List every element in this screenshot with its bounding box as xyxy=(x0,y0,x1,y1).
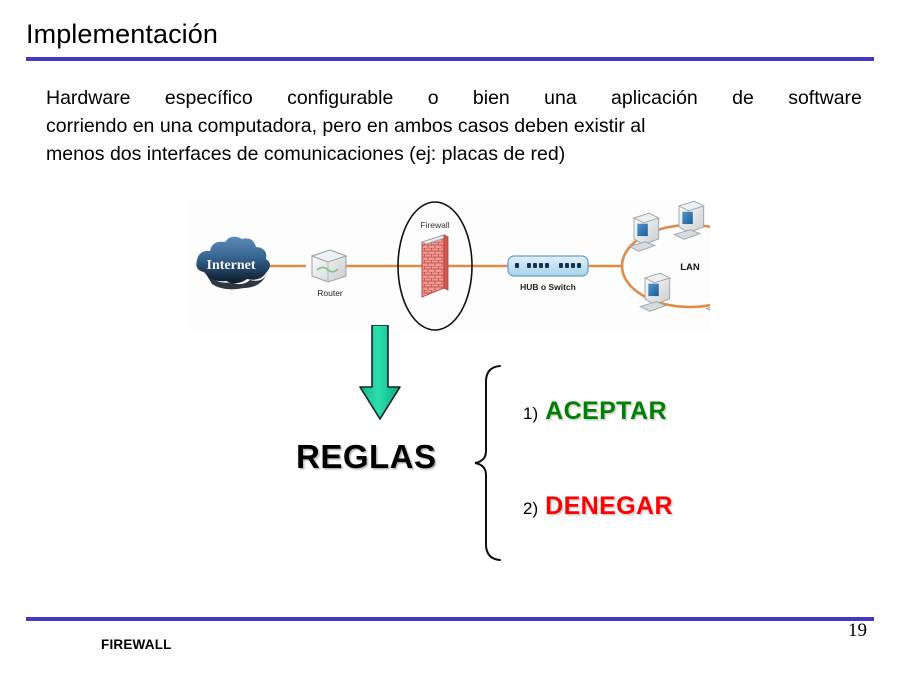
slide-canvas: Implementación Hardware específico confi… xyxy=(0,0,900,675)
arrow-shape xyxy=(360,325,400,419)
lan-label: LAN xyxy=(680,262,700,273)
rule-label-aceptar: ACEPTAR xyxy=(545,397,667,425)
title-divider xyxy=(26,57,874,61)
body-line-1: Hardware específico configurable o bien … xyxy=(46,84,862,112)
workstation-icon xyxy=(674,201,703,239)
body-word: de xyxy=(732,84,754,112)
internet-label: Internet xyxy=(207,258,256,273)
body-line-3: menos dos interfaces de comunicaciones (… xyxy=(46,140,862,168)
workstation-icon xyxy=(640,273,669,311)
body-word: bien xyxy=(473,84,510,112)
body-word: aplicación xyxy=(611,84,698,112)
router-label: Router xyxy=(317,288,343,298)
body-word: específico xyxy=(165,84,253,112)
page-number: 19 xyxy=(848,620,867,642)
rule-item-deny: 2)DENEGAR xyxy=(523,492,673,521)
body-paragraph: Hardware específico configurable o bien … xyxy=(46,84,862,168)
workstation-icon xyxy=(629,213,658,251)
firewall-icon: Firewall xyxy=(420,220,449,297)
rule-number: 2) xyxy=(523,499,538,518)
body-word: Hardware xyxy=(46,84,131,112)
footer-label: FIREWALL xyxy=(101,637,172,652)
router-icon: Router xyxy=(312,250,346,298)
hub-switch-icon: HUB o Switch xyxy=(508,256,588,292)
rule-item-accept: 1)ACEPTAR xyxy=(523,397,667,426)
page-title: Implementación xyxy=(26,20,218,50)
body-word: software xyxy=(788,84,862,112)
footer-divider xyxy=(26,617,874,621)
body-word: configurable xyxy=(287,84,393,112)
body-word: una xyxy=(544,84,577,112)
body-line-2: corriendo en una computadora, pero en am… xyxy=(46,112,862,140)
workstation-group xyxy=(629,201,710,313)
reglas-heading: REGLAS xyxy=(296,438,437,476)
rule-number: 1) xyxy=(523,404,538,423)
workstation-icon xyxy=(706,275,710,313)
network-diagram: Internet Router Firewall xyxy=(190,200,710,332)
hub-label: HUB o Switch xyxy=(520,282,576,292)
curly-brace xyxy=(470,363,510,563)
internet-cloud-icon: Internet xyxy=(196,237,270,290)
down-arrow xyxy=(345,325,415,425)
firewall-label: Firewall xyxy=(420,220,449,230)
body-word: o xyxy=(428,84,439,112)
rule-label-denegar: DENEGAR xyxy=(545,492,673,520)
